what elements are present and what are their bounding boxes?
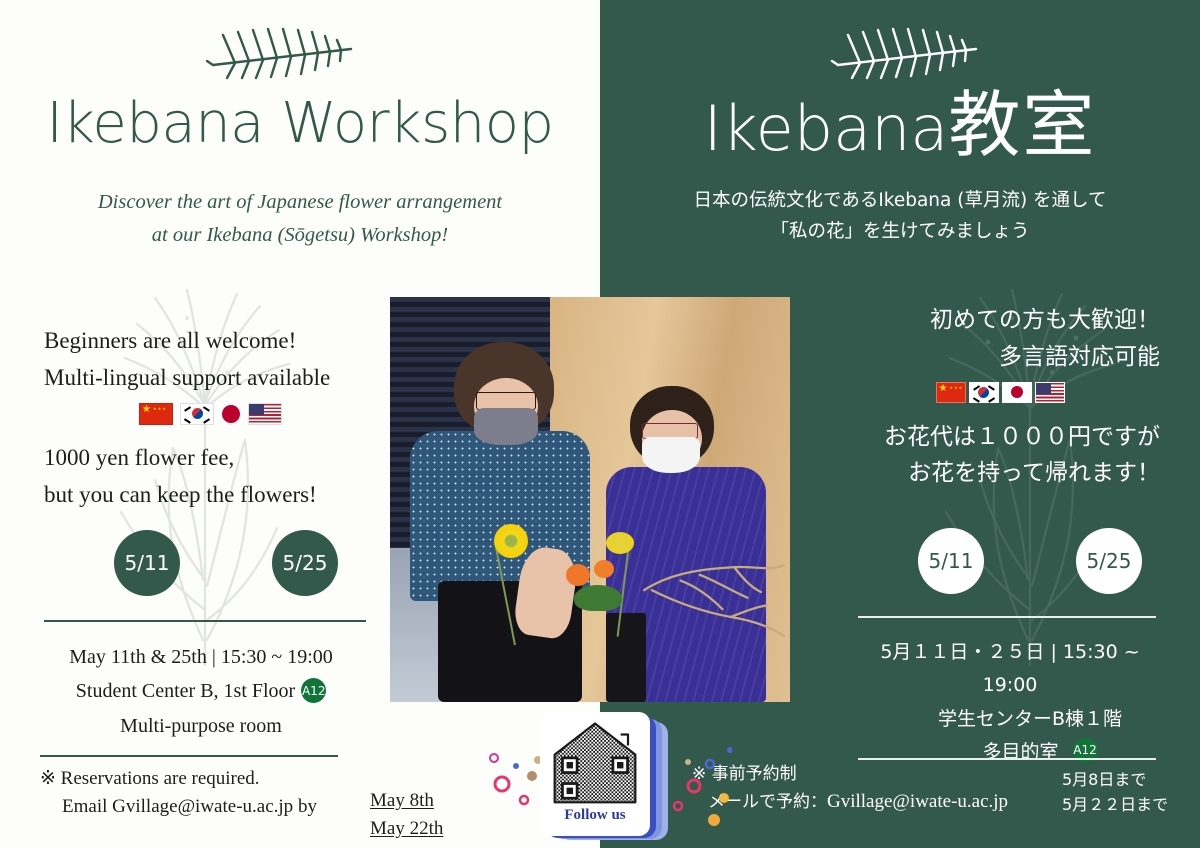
subtitle-line-2: at our Ikebana (Sōgetsu) Workshop! (20, 219, 580, 252)
subtitle-line-1: Discover the art of Japanese flower arra… (20, 186, 580, 219)
deadlines-japanese: 5月8日まで 5月２２日まで (1062, 768, 1200, 818)
flag-china-icon-right (936, 382, 966, 403)
language-flags-left (139, 403, 394, 425)
date-circle-may-25-left: 5/25 (272, 530, 338, 596)
body-line-2-jp: 多言語対応可能 (840, 339, 1160, 376)
reservation-text-jp: 事前予約制 (712, 764, 797, 784)
details-location-en: Student Center B, 1st FloorA12 (36, 674, 366, 708)
details-location-text-en: Student Center B, 1st Floor (76, 680, 295, 702)
body-line-2: Multi-lingual support available (44, 359, 394, 396)
flag-south-korea-icon-right (969, 382, 999, 403)
follow-us-label: Follow us (564, 807, 625, 824)
details-datetime-jp: 5月１１日・２５日 | 15:30 ~ 19:00 (850, 636, 1170, 703)
page-title-japanese: Ikebana教室 (600, 88, 1200, 164)
divider-right-lower (858, 758, 1156, 760)
flag-usa-icon-right (1035, 382, 1065, 403)
qr-code-house-icon[interactable] (549, 718, 641, 806)
flag-japan-icon-right (1002, 382, 1032, 403)
flag-usa-icon (248, 403, 282, 425)
title-kanji-jp: 教室 (948, 83, 1096, 167)
fern-leaf-icon (205, 18, 355, 88)
reservation-email-en[interactable]: Gvillage@iwate-u.ac.jp (112, 796, 293, 817)
poster-root: Ikebana Workshop Discover the art of Jap… (0, 0, 1200, 848)
body-line-1-jp: 初めての方も大歓迎！ (840, 302, 1160, 339)
deadline-1-jp: 5月8日まで (1062, 768, 1200, 793)
reservation-mark-right: ※ (692, 764, 706, 784)
body-line-3-jp: お花代は１０００円ですが (840, 419, 1160, 456)
divider-right-upper (858, 616, 1156, 618)
workshop-photo (390, 297, 790, 702)
subtitle-english: Discover the art of Japanese flower arra… (20, 186, 580, 252)
follow-us-qr-card[interactable]: Follow us (540, 712, 672, 848)
flag-china-icon (139, 403, 173, 425)
body-line-4: but you can keep the flowers! (44, 476, 394, 513)
dried-branch-decoration (642, 548, 786, 653)
date-circle-may-11-right: 5/11 (918, 528, 984, 594)
body-line-4-jp: お花を持って帰れます！ (840, 455, 1160, 492)
subtitle-japanese: 日本の伝統文化であるIkebana (草月流) を通して 「私の花」を生けてみま… (620, 186, 1180, 247)
qr-code-card[interactable]: Follow us (540, 712, 650, 836)
subtitle-line-1-jp: 日本の伝統文化であるIkebana (草月流) を通して (620, 186, 1180, 217)
subtitle-line-2-jp: 「私の花」を生けてみましょう (620, 217, 1180, 248)
body-line-3: 1000 yen flower fee, (44, 439, 394, 476)
reservation-mark-left: ※ (40, 768, 56, 789)
divider-left-upper (44, 620, 366, 622)
a12-badge-left: A12 (301, 678, 326, 703)
flag-japan-icon (221, 403, 241, 425)
deadline-2-jp: 5月２２日まで (1062, 793, 1200, 818)
reservation-line-2-jp: メールで予約：Gvillage@iwate-u.ac.jp (692, 788, 1092, 817)
flag-south-korea-icon (180, 403, 214, 425)
reservation-notice-japanese: ※ 事前予約制 メールで予約：Gvillage@iwate-u.ac.jp (692, 762, 1092, 816)
language-flags-right (840, 382, 1160, 403)
deadline-2-en: May 22th (370, 818, 443, 839)
body-copy-english: Beginners are all welcome! Multi-lingual… (44, 322, 394, 513)
reservation-line-1-jp: ※ 事前予約制 (692, 762, 1092, 788)
details-location-jp: 学生センターB棟１階 (850, 703, 1170, 736)
divider-left-lower (40, 755, 338, 757)
deadline-1-en: May 8th (370, 790, 434, 811)
event-details-japanese: 5月１１日・２５日 | 15:30 ~ 19:00 学生センターB棟１階 多目的… (850, 636, 1170, 769)
deadlines-english: May 8th May 22th (370, 787, 490, 842)
reservation-email-jp[interactable]: Gvillage@iwate-u.ac.jp (827, 791, 1008, 812)
page-title-english: Ikebana Workshop (0, 95, 600, 154)
body-line-1: Beginners are all welcome! (44, 322, 394, 359)
date-circle-may-11-left: 5/11 (114, 530, 180, 596)
reservation-text-en: Reservations are required. (61, 768, 260, 789)
body-copy-japanese: 初めての方も大歓迎！ 多言語対応可能 お花代は１０００円ですが お花を持って帰れ… (840, 302, 1160, 492)
reservation-email-prefix-en: Email (62, 796, 112, 817)
title-latin-jp: Ikebana (704, 92, 949, 165)
reservation-email-suffix-en: by (293, 796, 317, 817)
details-room-en: Multi-purpose room (36, 709, 366, 743)
reservation-email-prefix-jp: メールで予約： (708, 792, 827, 812)
date-circle-may-25-right: 5/25 (1076, 528, 1142, 594)
event-details-english: May 11th & 25th | 15:30 ~ 19:00 Student … (36, 640, 366, 743)
details-datetime-en: May 11th & 25th | 15:30 ~ 19:00 (36, 640, 366, 674)
fern-leaf-icon-right (830, 18, 980, 88)
